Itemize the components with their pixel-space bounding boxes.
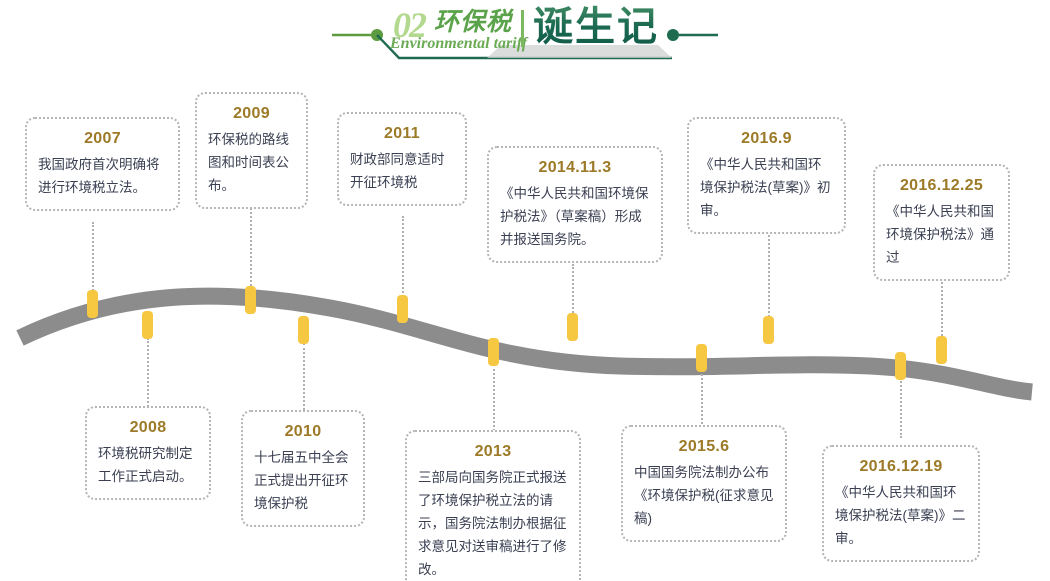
header-cn-label: 环保税 [434, 8, 512, 35]
card-text: 环境税研究制定工作正式启动。 [98, 442, 198, 488]
timeline-card-2008[interactable]: 2008 环境税研究制定工作正式启动。 [85, 406, 211, 500]
marker-2009 [245, 286, 256, 314]
card-text: 环保税的路线图和时间表公布。 [208, 128, 295, 197]
connector-2011 [402, 216, 404, 300]
marker-2007 [87, 290, 98, 318]
timeline-card-2007[interactable]: 2007 我国政府首次明确将进行环境税立法。 [25, 117, 180, 211]
card-text: 《中华人民共和国环境保护税法(草案)》二审。 [835, 481, 967, 550]
card-text: 《中华人民共和国环境保护税法(草案)》初审。 [700, 153, 833, 222]
connector-2014 [572, 264, 574, 320]
timeline-card-2016-12-19[interactable]: 2016.12.19 《中华人民共和国环境保护税法(草案)》二审。 [822, 445, 980, 562]
header-banner: 02 环保税 Environmental tariff 诞生记 [0, 0, 1050, 72]
card-year: 2014.11.3 [500, 157, 650, 179]
timeline-card-2010[interactable]: 2010 十七届五中全会正式提出开征环境保护税 [241, 410, 365, 527]
connector-2007 [92, 222, 94, 294]
connector-2016-9 [768, 224, 770, 320]
card-year: 2015.6 [634, 436, 774, 458]
connector-2016-12-19 [900, 378, 902, 438]
card-year: 2011 [350, 123, 454, 145]
timeline-card-2011[interactable]: 2011 财政部同意适时开征环境税 [337, 112, 467, 206]
marker-2011 [397, 295, 408, 323]
connector-2008 [147, 338, 149, 410]
card-text: 中国国务院法制办公布《环境保护税(征求意见稿) [634, 461, 774, 530]
marker-2016-12-25 [936, 336, 947, 364]
card-text: 财政部同意适时开征环境税 [350, 148, 454, 194]
timeline-card-2009[interactable]: 2009 环保税的路线图和时间表公布。 [195, 92, 308, 209]
card-text: 三部局向国务院正式报送了环境保护税立法的请示，国务院法制办根据征求意见对送审稿进… [418, 466, 568, 581]
card-year: 2016.12.19 [835, 456, 967, 478]
card-year: 2013 [418, 441, 568, 463]
marker-2016-12-19 [895, 352, 906, 380]
card-year: 2009 [208, 103, 295, 125]
connector-2010 [303, 343, 305, 410]
timeline-card-2014-11-3[interactable]: 2014.11.3 《中华人民共和国环境保护税法》（草案稿）形成并报送国务院。 [487, 146, 663, 263]
connector-2009 [250, 196, 252, 290]
connector-2013 [493, 364, 495, 431]
marker-2015 [696, 344, 707, 372]
marker-2010 [298, 316, 309, 344]
marker-2016-9 [763, 316, 774, 344]
infographic-canvas: 02 环保税 Environmental tariff 诞生记 2007 我国政… [0, 0, 1050, 581]
page-title: 诞生记 [533, 5, 659, 49]
timeline-card-2016-9[interactable]: 2016.9 《中华人民共和国环境保护税法(草案)》初审。 [687, 117, 846, 234]
card-text: 我国政府首次明确将进行环境税立法。 [38, 153, 167, 199]
header-divider [521, 10, 524, 47]
card-year: 2016.9 [700, 128, 833, 150]
timeline-card-2016-12-25[interactable]: 2016.12.25 《中华人民共和国环境保护税法》通过 [873, 164, 1010, 281]
connector-2015 [701, 370, 703, 424]
card-text: 《中华人民共和国环境保护税法》通过 [886, 200, 997, 269]
card-text: 十七届五中全会正式提出开征环境保护税 [254, 446, 352, 515]
marker-2013 [488, 338, 499, 366]
card-text: 《中华人民共和国环境保护税法》（草案稿）形成并报送国务院。 [500, 182, 650, 251]
card-year: 2016.12.25 [886, 175, 997, 197]
card-year: 2008 [98, 417, 198, 439]
header-en-label: Environmental tariff [390, 35, 527, 53]
timeline-card-2013[interactable]: 2013 三部局向国务院正式报送了环境保护税立法的请示，国务院法制办根据征求意见… [405, 430, 581, 581]
card-year: 2007 [38, 128, 167, 150]
marker-2008 [142, 311, 153, 339]
card-year: 2010 [254, 421, 352, 443]
timeline-card-2015-6[interactable]: 2015.6 中国国务院法制办公布《环境保护税(征求意见稿) [621, 425, 787, 542]
marker-2014 [567, 313, 578, 341]
